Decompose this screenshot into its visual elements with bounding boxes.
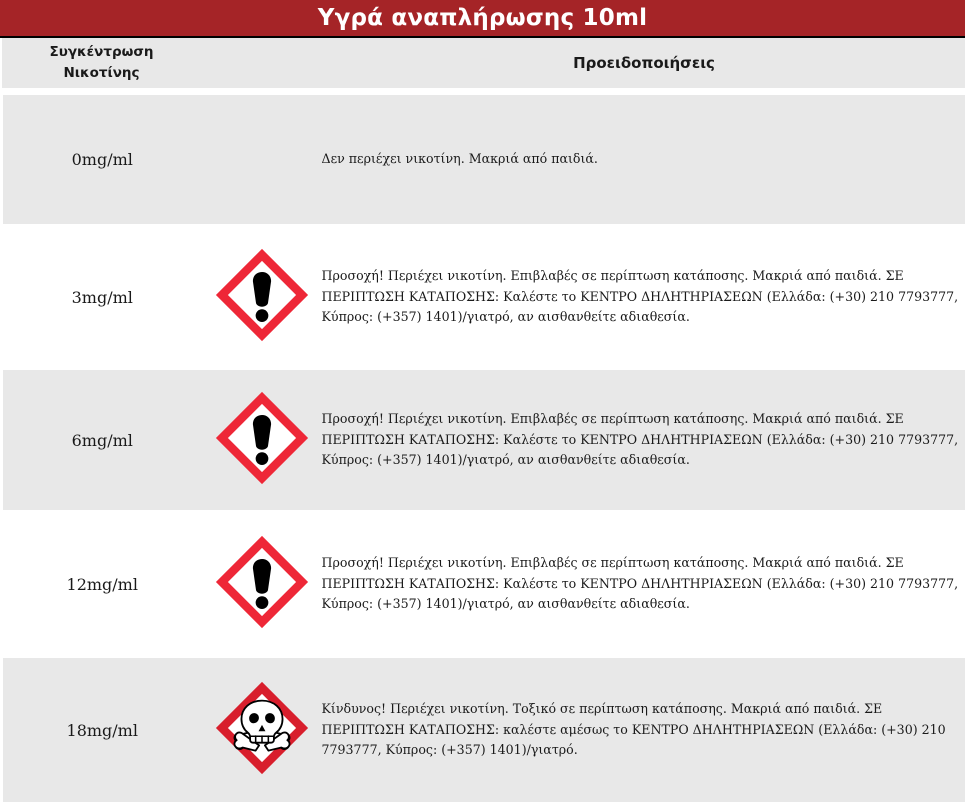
header-body-gap [2,88,965,95]
cell-concentration: 3mg/ml [2,227,202,367]
cell-pictogram [202,227,322,367]
cell-warning: Κίνδυνος! Περιέχει νικοτίνη. Τοξικό σε π… [322,658,965,802]
cell-pictogram [202,658,322,802]
cell-pictogram [202,370,322,510]
column-header-warnings: Προειδοποιήσεις [322,38,965,88]
cell-pictogram [202,513,322,655]
cell-warning: Προσοχή! Περιέχει νικοτίνη. Επιβλαβές σε… [322,513,965,655]
exclamation-mark-hazard-icon [214,247,310,343]
nicotine-warnings-table: Συγκέντρωση Νικοτίνης Προειδοποιήσεις 0m… [0,38,965,802]
cell-concentration: 6mg/ml [2,370,202,510]
table-header-row: Συγκέντρωση Νικοτίνης Προειδοποιήσεις [2,38,965,88]
table-body: 0mg/ml Δεν περιέχει νικοτίνη. Μακριά από… [2,88,965,802]
skull-and-crossbones-hazard-icon [214,680,310,776]
page-title-bar: Υγρά αναπλήρωσης 10ml [0,0,965,38]
exclamation-mark-hazard-icon [214,390,310,486]
cell-warning: Δεν περιέχει νικοτίνη. Μακριά από παιδιά… [322,95,965,224]
cell-pictogram [202,95,322,224]
table-row: 3mg/ml Προσοχή! Περιέχει νικοτίνη. Επιβλ… [2,227,965,367]
cell-warning: Προσοχή! Περιέχει νικοτίνη. Επιβλαβές σε… [322,370,965,510]
table-row: 6mg/ml Προσοχή! Περιέχει νικοτίνη. Επιβλ… [2,370,965,510]
column-header-pictogram [202,38,322,88]
cell-warning: Προσοχή! Περιέχει νικοτίνη. Επιβλαβές σε… [322,227,965,367]
table-header: Συγκέντρωση Νικοτίνης Προειδοποιήσεις [2,38,965,88]
column-header-concentration-line2: Νικοτίνης [2,63,202,84]
cell-concentration: 12mg/ml [2,513,202,655]
table-row: 12mg/ml Προσοχή! Περιέχει νικοτίνη. Επιβ… [2,513,965,655]
table-row: 18mg/ml [2,658,965,802]
cell-concentration: 0mg/ml [2,95,202,224]
table-row: 0mg/ml Δεν περιέχει νικοτίνη. Μακριά από… [2,95,965,224]
cell-concentration: 18mg/ml [2,658,202,802]
column-header-concentration-line1: Συγκέντρωση [50,44,154,60]
column-header-concentration: Συγκέντρωση Νικοτίνης [2,38,202,88]
page-title: Υγρά αναπλήρωσης 10ml [318,7,647,30]
nicotine-warning-table-page: Υγρά αναπλήρωσης 10ml Συγκέντρωση Νικοτί… [0,0,965,804]
exclamation-mark-hazard-icon [214,534,310,630]
